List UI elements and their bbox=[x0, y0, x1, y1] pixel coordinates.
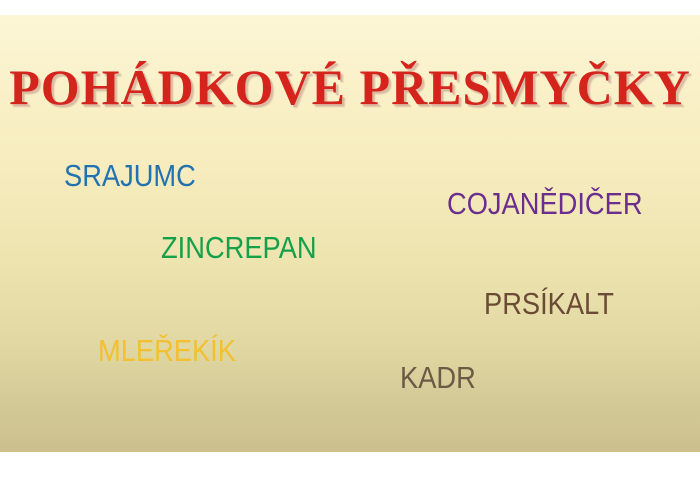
page-title: POHÁDKOVÉ PŘESMYČKY bbox=[9, 62, 691, 112]
anagram-word-kadr: KADR bbox=[400, 362, 476, 393]
anagram-word-prsikalt: PRSÍKALT bbox=[484, 288, 614, 319]
anagram-word-mlerekik: MLEŘEKÍK bbox=[98, 335, 236, 366]
anagram-word-srajumc: SRAJUMC bbox=[64, 160, 196, 191]
anagram-word-zincrepan: ZINCREPAN bbox=[161, 232, 317, 263]
anagram-word-cojanedicer: COJANĚDIČER bbox=[447, 188, 643, 219]
slide-canvas: POHÁDKOVÉ PŘESMYČKY SRAJUMC COJANĚDIČER … bbox=[0, 0, 700, 496]
title-container: POHÁDKOVÉ PŘESMYČKY bbox=[0, 62, 700, 112]
